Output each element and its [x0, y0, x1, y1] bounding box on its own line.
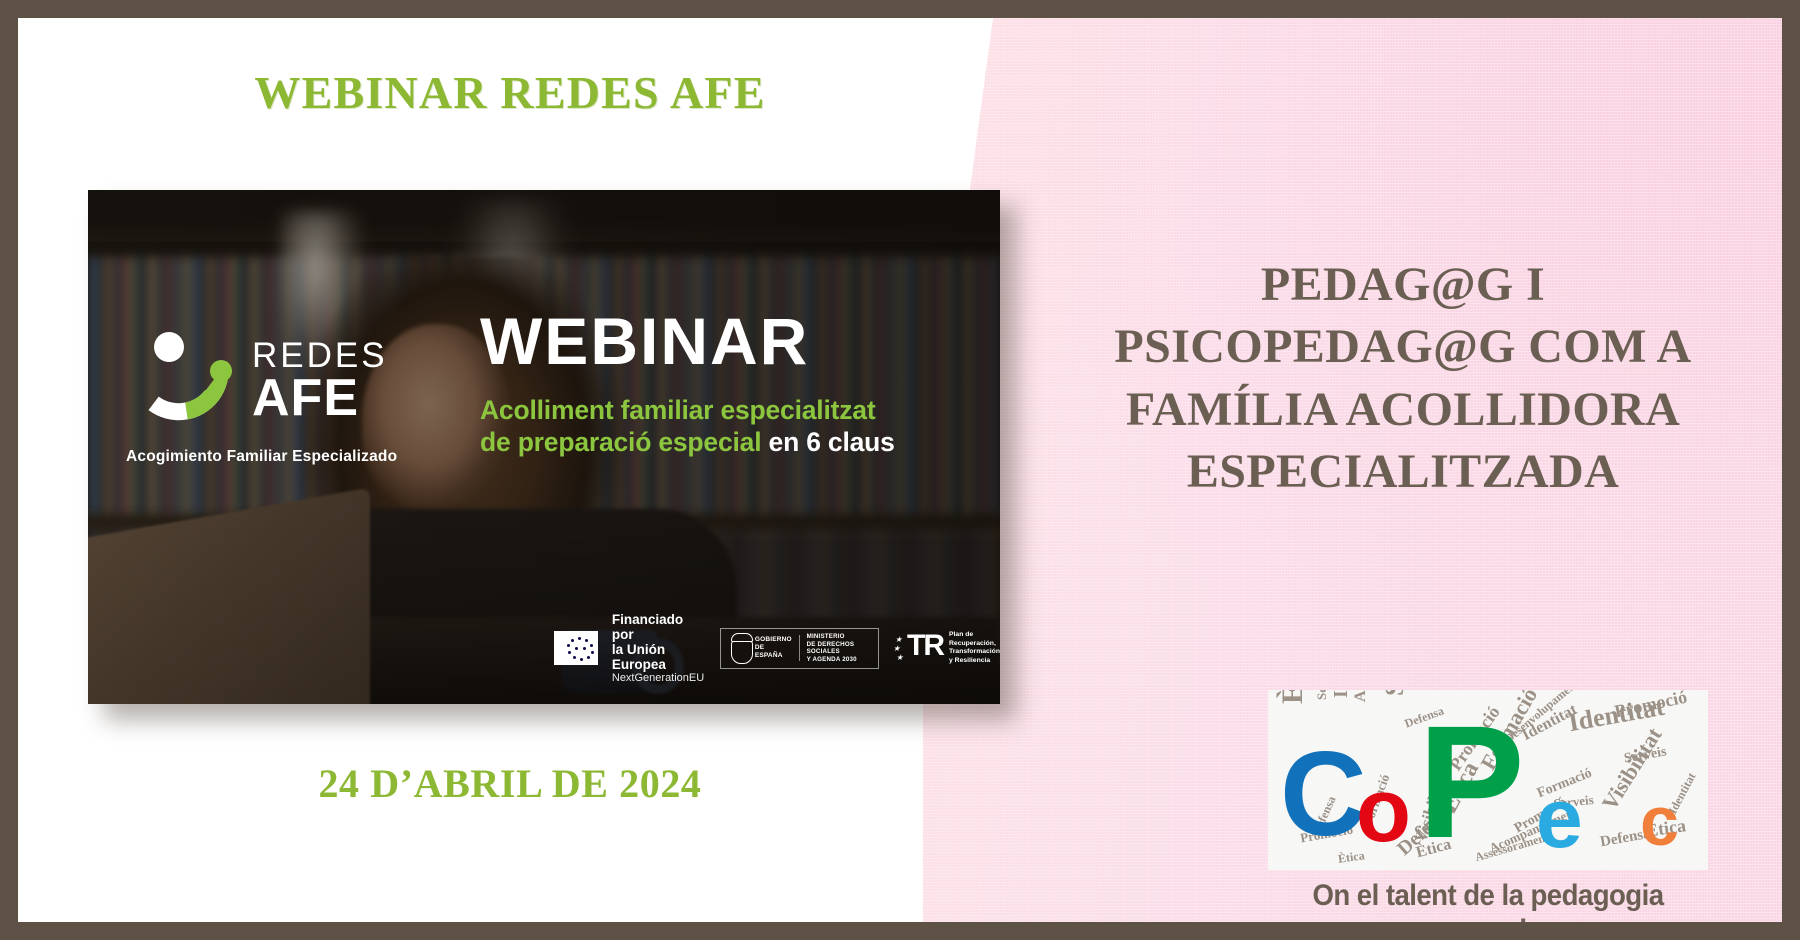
logo-tagline: On el talent de la pedagogia suma! [1286, 879, 1691, 922]
logo-subtitle: Acogimiento Familiar Especializado [126, 448, 416, 466]
banner-subtitle-green: de preparació especial [480, 427, 761, 457]
plan-line4: y Resiliencia [949, 657, 1000, 666]
logo-letter-c: C [1280, 734, 1367, 854]
eu-funding-line2: la Unión Europea [612, 642, 706, 672]
eu-stars [554, 631, 598, 665]
slide-canvas: WEBINAR REDES AFE [18, 18, 1782, 922]
coat-of-arms-icon [728, 633, 748, 663]
plan-line1: Plan de [949, 631, 1000, 640]
ministerio-line3: Y AGENDA 2030 [807, 656, 871, 664]
logo-name-bottom: AFE [252, 372, 359, 424]
gobierno-line2: DE ESPAÑA [755, 644, 792, 660]
divider [799, 635, 800, 661]
prtr-letters: TR [907, 631, 943, 661]
banner-subtitle-line2: de preparació especial en 6 claus [480, 426, 980, 458]
session-title-line4: ESPECIALITZADA [1038, 441, 1768, 503]
eu-funding-sub: NextGenerationEU [612, 672, 706, 684]
ministerio-text: MINISTERIO DE DERECHOS SOCIALES Y AGENDA… [807, 633, 871, 664]
eu-funding-text: Financiado por la Unión Europea NextGene… [612, 612, 706, 685]
logo-letter-e: e [1536, 776, 1583, 860]
shield-shape [731, 641, 753, 664]
plan-text: Plan de Recuperación, Transformación y R… [949, 631, 1000, 666]
eu-flag-icon [554, 631, 598, 665]
prtr-mark-icon: ★ ★ ★ TR [893, 631, 943, 665]
session-title-line1: PEDAG@G I [1038, 254, 1768, 316]
dot-white-icon [154, 332, 184, 362]
banner-subtitle-line1: Acolliment familiar especialitzat [480, 394, 980, 426]
plan-line3: Transformación [949, 648, 1000, 657]
session-title-line3: FAMÍLIA ACOLLIDORA [1038, 379, 1768, 441]
logo-letter-p: P [1418, 702, 1525, 862]
webinar-banner-image: REDES AFE Acogimiento Familiar Especiali… [88, 190, 1000, 704]
event-date: 24 D’ABRIL DE 2024 [70, 760, 950, 807]
eu-funding-line1: Financiado por [612, 612, 706, 642]
word-cloud: Ètica Serveis Identitat Acompanyament Se… [1268, 690, 1708, 870]
logo-letter-c2: c [1640, 786, 1679, 856]
gobierno-text: GOBIERNO DE ESPAÑA [755, 636, 792, 660]
cope-letters: C o P e c [1268, 690, 1708, 870]
banner-subtitle-white: en 6 claus [769, 427, 895, 457]
ministerio-line2: DE DERECHOS SOCIALES [807, 641, 871, 657]
slide-frame: WEBINAR REDES AFE [0, 0, 1800, 940]
dot-green-icon [210, 360, 232, 382]
ministerio-line1: MINISTERIO [807, 633, 871, 641]
banner-text-block: WEBINAR Acolliment familiar especialitza… [480, 308, 980, 459]
gobierno-espana-logo: GOBIERNO DE ESPAÑA MINISTERIO DE DERECHO… [720, 628, 879, 669]
session-title: PEDAG@G I PSICOPEDAG@G COM A FAMÍLIA ACO… [1038, 254, 1768, 504]
page-title: WEBINAR REDES AFE [70, 66, 950, 119]
prtr-stars: ★ ★ ★ [893, 634, 907, 662]
cope-logo: Ètica Serveis Identitat Acompanyament Se… [1268, 690, 1708, 922]
plan-recuperacion-logo: ★ ★ ★ TR Plan de Recuperación, Transform… [893, 631, 1000, 666]
funder-logos: Financiado por la Unión Europea NextGene… [554, 612, 1000, 685]
gobierno-line1: GOBIERNO [755, 636, 792, 644]
session-title-line2: PSICOPEDAG@G COM A [1038, 316, 1768, 378]
banner-headline: WEBINAR [480, 308, 980, 374]
plan-line2: Recuperación, [949, 640, 1000, 649]
smile-icon [126, 330, 238, 426]
logo-letter-o: o [1356, 766, 1411, 856]
